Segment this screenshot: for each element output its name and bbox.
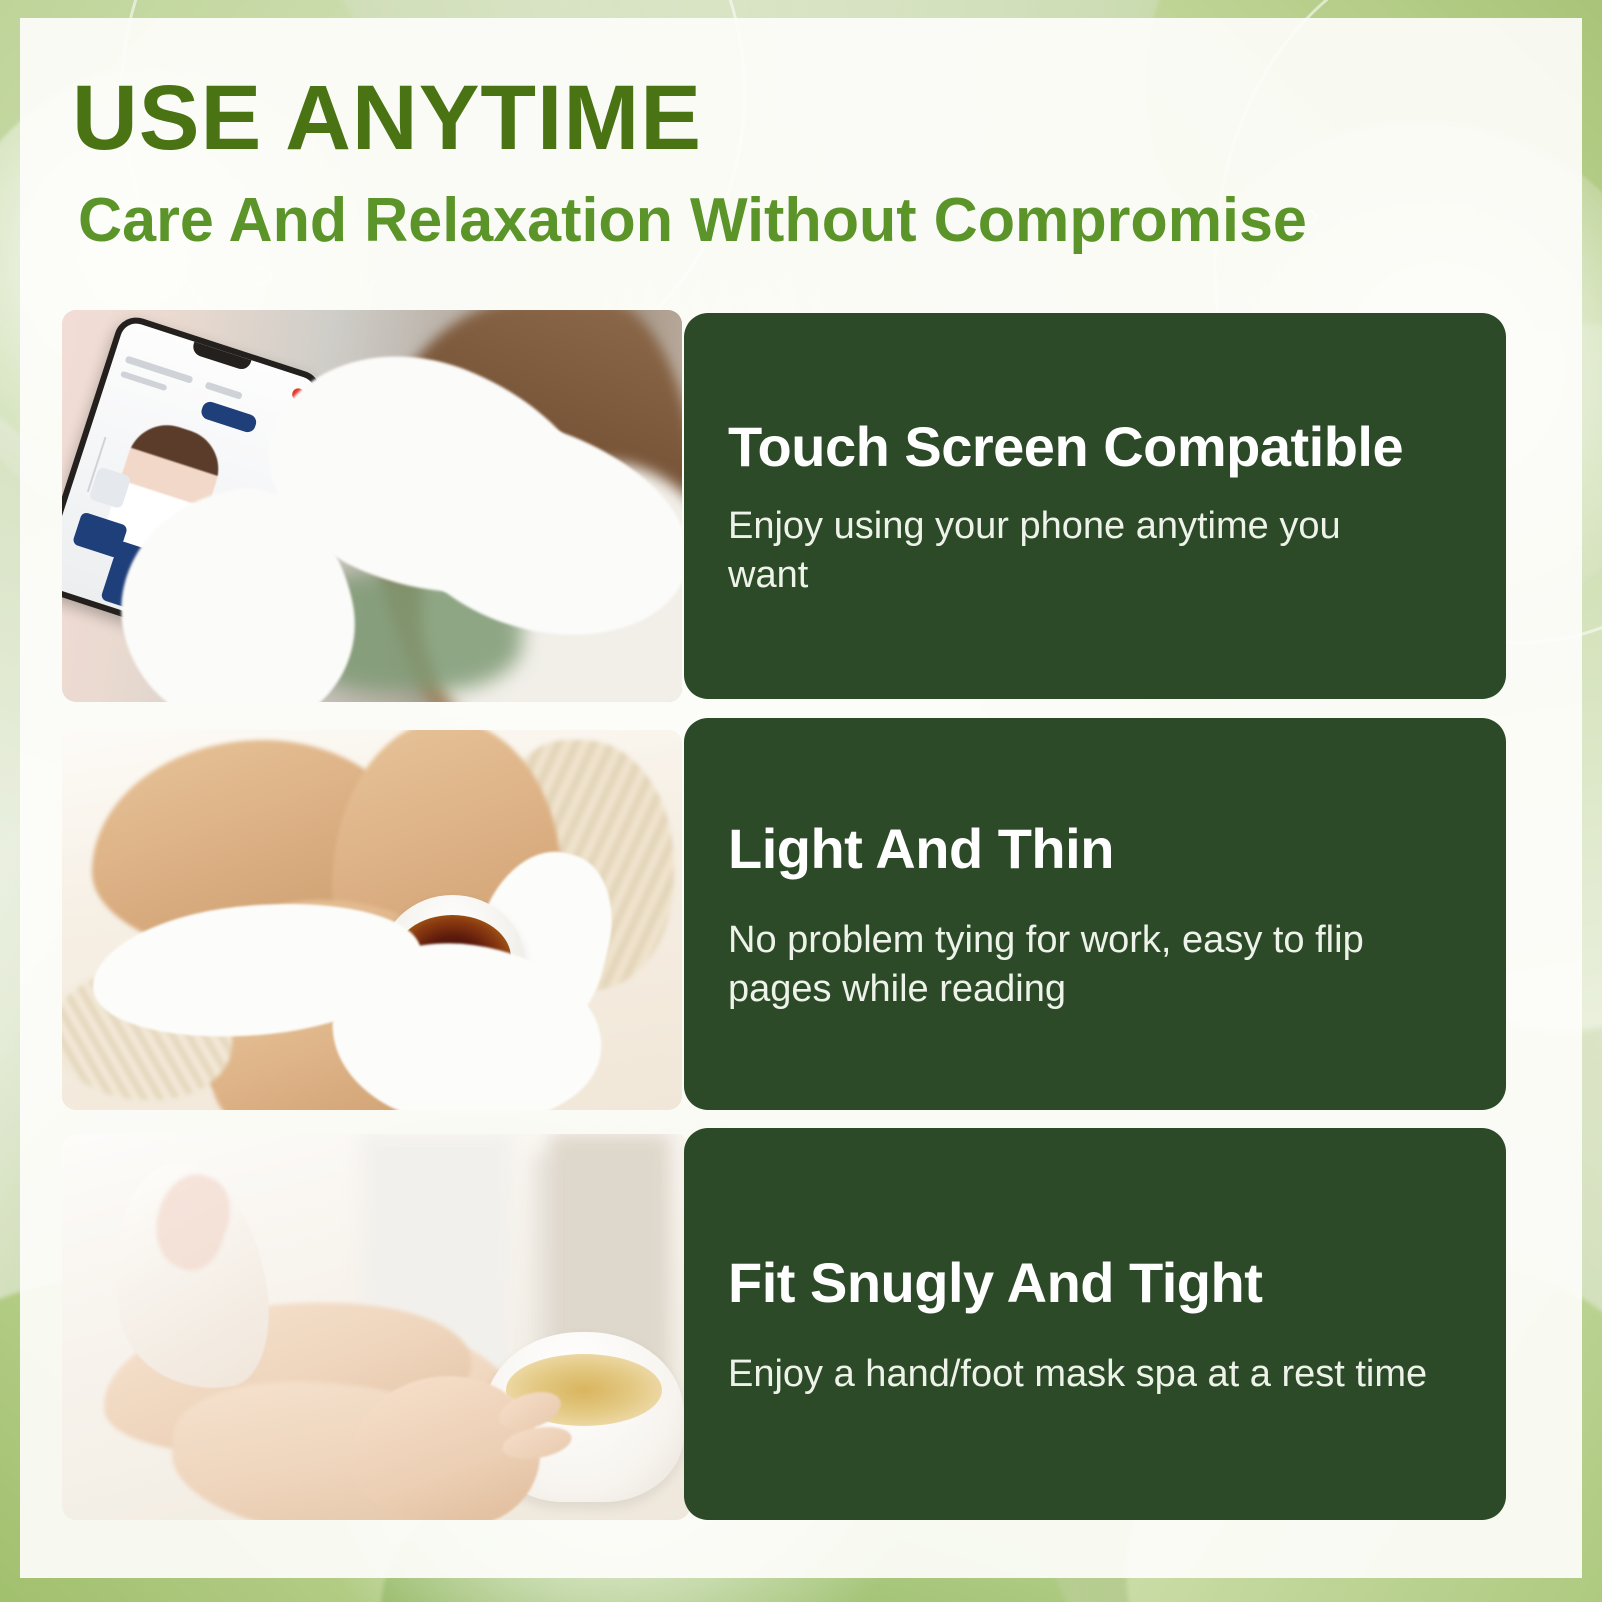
- page-title: USE ANYTIME: [72, 72, 702, 164]
- feature-card-2: Light And Thin No problem tying for work…: [684, 718, 1506, 1110]
- page-subtitle: Care And Relaxation Without Compromise: [78, 190, 1307, 252]
- feature-card-1: Touch Screen Compatible Enjoy using your…: [684, 313, 1506, 699]
- feature-card-1-title: Touch Screen Compatible: [728, 413, 1462, 480]
- feature-row-2: Light And Thin No problem tying for work…: [0, 718, 1602, 1110]
- feature-card-3: Fit Snugly And Tight Enjoy a hand/foot m…: [684, 1128, 1506, 1520]
- feature-card-1-description: Enjoy using your phone anytime you want: [728, 502, 1428, 599]
- feature-card-2-title: Light And Thin: [728, 815, 1462, 882]
- feature-photo-2: [62, 730, 682, 1110]
- photo1-ui-line: [205, 381, 243, 399]
- photo1-ui-chip: [199, 400, 258, 434]
- feature-row-3: Fit Snugly And Tight Enjoy a hand/foot m…: [0, 1128, 1602, 1520]
- feature-card-3-description: Enjoy a hand/foot mask spa at a rest tim…: [728, 1350, 1428, 1399]
- feature-photo-1: [62, 310, 682, 702]
- product-infographic-poster: USE ANYTIME Care And Relaxation Without …: [0, 0, 1602, 1602]
- feature-row-1: Touch Screen Compatible Enjoy using your…: [0, 310, 1602, 702]
- feature-card-3-title: Fit Snugly And Tight: [728, 1249, 1462, 1316]
- feature-card-2-description: No problem tying for work, easy to flip …: [728, 916, 1428, 1013]
- feature-photo-3: [62, 1134, 690, 1520]
